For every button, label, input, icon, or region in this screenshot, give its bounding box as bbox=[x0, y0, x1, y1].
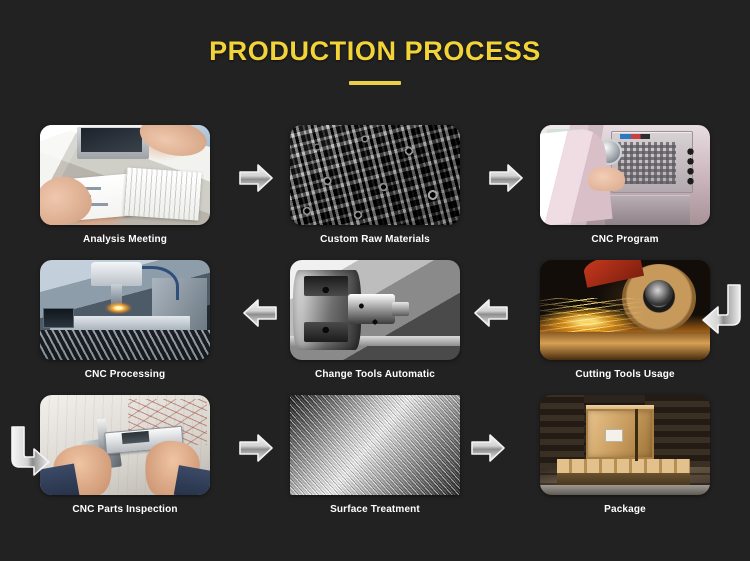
process-step-5[interactable]: Change Tools Automatic bbox=[250, 245, 500, 380]
step-label: Package bbox=[604, 504, 646, 515]
process-grid: Analysis Meeting Custom Raw Materials CN… bbox=[0, 110, 750, 515]
cnc-control-panel-photo bbox=[540, 125, 710, 225]
laptop-screen bbox=[81, 128, 142, 152]
crate-strap bbox=[635, 409, 638, 461]
cutting-spark bbox=[105, 302, 132, 314]
page-title: PRODUCTION PROCESS bbox=[0, 38, 750, 65]
warehouse-floor bbox=[540, 485, 710, 495]
step-image-cnc-program[interactable] bbox=[540, 125, 710, 225]
business-meeting-photo bbox=[40, 125, 210, 225]
step-label: Analysis Meeting bbox=[83, 234, 167, 245]
step-image-cutting-tools-usage[interactable] bbox=[540, 260, 710, 360]
caliper-display bbox=[121, 431, 149, 444]
brushed-metal-photo bbox=[290, 395, 460, 495]
hand-left bbox=[40, 171, 96, 225]
step-image-custom-raw-materials[interactable] bbox=[290, 125, 460, 225]
page-header: PRODUCTION PROCESS bbox=[0, 0, 750, 85]
step-label: Change Tools Automatic bbox=[315, 369, 435, 380]
metal-stock-photo bbox=[290, 125, 460, 225]
machine-monitor bbox=[43, 308, 74, 328]
process-step-2[interactable]: Custom Raw Materials bbox=[250, 110, 500, 245]
panel-keypad bbox=[618, 142, 676, 184]
process-step-8[interactable]: Surface Treatment bbox=[250, 380, 500, 515]
process-step-6[interactable]: Cutting Tools Usage bbox=[500, 245, 750, 380]
step-label: Surface Treatment bbox=[330, 504, 420, 515]
step-image-change-tools-automatic[interactable] bbox=[290, 260, 460, 360]
pink-note bbox=[131, 186, 163, 204]
machine-door bbox=[605, 195, 690, 225]
step-label: CNC Parts Inspection bbox=[72, 504, 177, 515]
pie-chart bbox=[162, 183, 180, 201]
cnc-milling-photo bbox=[40, 260, 210, 360]
sleeve-left bbox=[40, 463, 80, 495]
step-image-analysis-meeting[interactable] bbox=[40, 125, 210, 225]
sleeve-right bbox=[174, 465, 210, 495]
production-process-infographic: { "header": { "title": "PRODUCTION PROCE… bbox=[0, 0, 750, 561]
shipping-label bbox=[605, 429, 624, 442]
workshop-floor bbox=[540, 332, 710, 360]
spark-stream bbox=[540, 298, 645, 332]
panel-display bbox=[620, 134, 651, 139]
lathe-chuck-photo bbox=[290, 260, 460, 360]
step-label: Custom Raw Materials bbox=[320, 234, 430, 245]
process-step-7[interactable]: CNC Parts Inspection bbox=[0, 380, 250, 515]
wooden-pallet bbox=[557, 459, 690, 473]
caliper-measuring-photo bbox=[40, 395, 210, 495]
wooden-crate-pallet-photo bbox=[540, 395, 710, 495]
container-wall-right bbox=[645, 395, 710, 467]
container-wall-left bbox=[540, 395, 584, 469]
step-image-surface-treatment[interactable] bbox=[290, 395, 460, 495]
process-step-9[interactable]: Package bbox=[500, 380, 750, 515]
process-step-1[interactable]: Analysis Meeting bbox=[0, 110, 250, 245]
chuck-bolt-holes bbox=[290, 260, 460, 360]
process-step-4[interactable]: CNC Processing bbox=[0, 245, 250, 380]
process-step-3[interactable]: CNC Program bbox=[500, 110, 750, 245]
spindle-head bbox=[91, 262, 142, 286]
step-image-cnc-parts-inspection[interactable] bbox=[40, 395, 210, 495]
step-label: CNC Program bbox=[591, 234, 658, 245]
step-image-package[interactable] bbox=[540, 395, 710, 495]
step-image-cnc-processing[interactable] bbox=[40, 260, 210, 360]
metal-chips bbox=[40, 330, 210, 360]
wheel-hub bbox=[645, 280, 672, 306]
grinding-sparks-photo bbox=[540, 260, 710, 360]
operator-hand bbox=[588, 167, 625, 191]
step-label: CNC Processing bbox=[85, 369, 165, 380]
title-underline-rule bbox=[349, 81, 401, 85]
panel-buttons bbox=[683, 147, 698, 185]
step-label: Cutting Tools Usage bbox=[575, 369, 674, 380]
